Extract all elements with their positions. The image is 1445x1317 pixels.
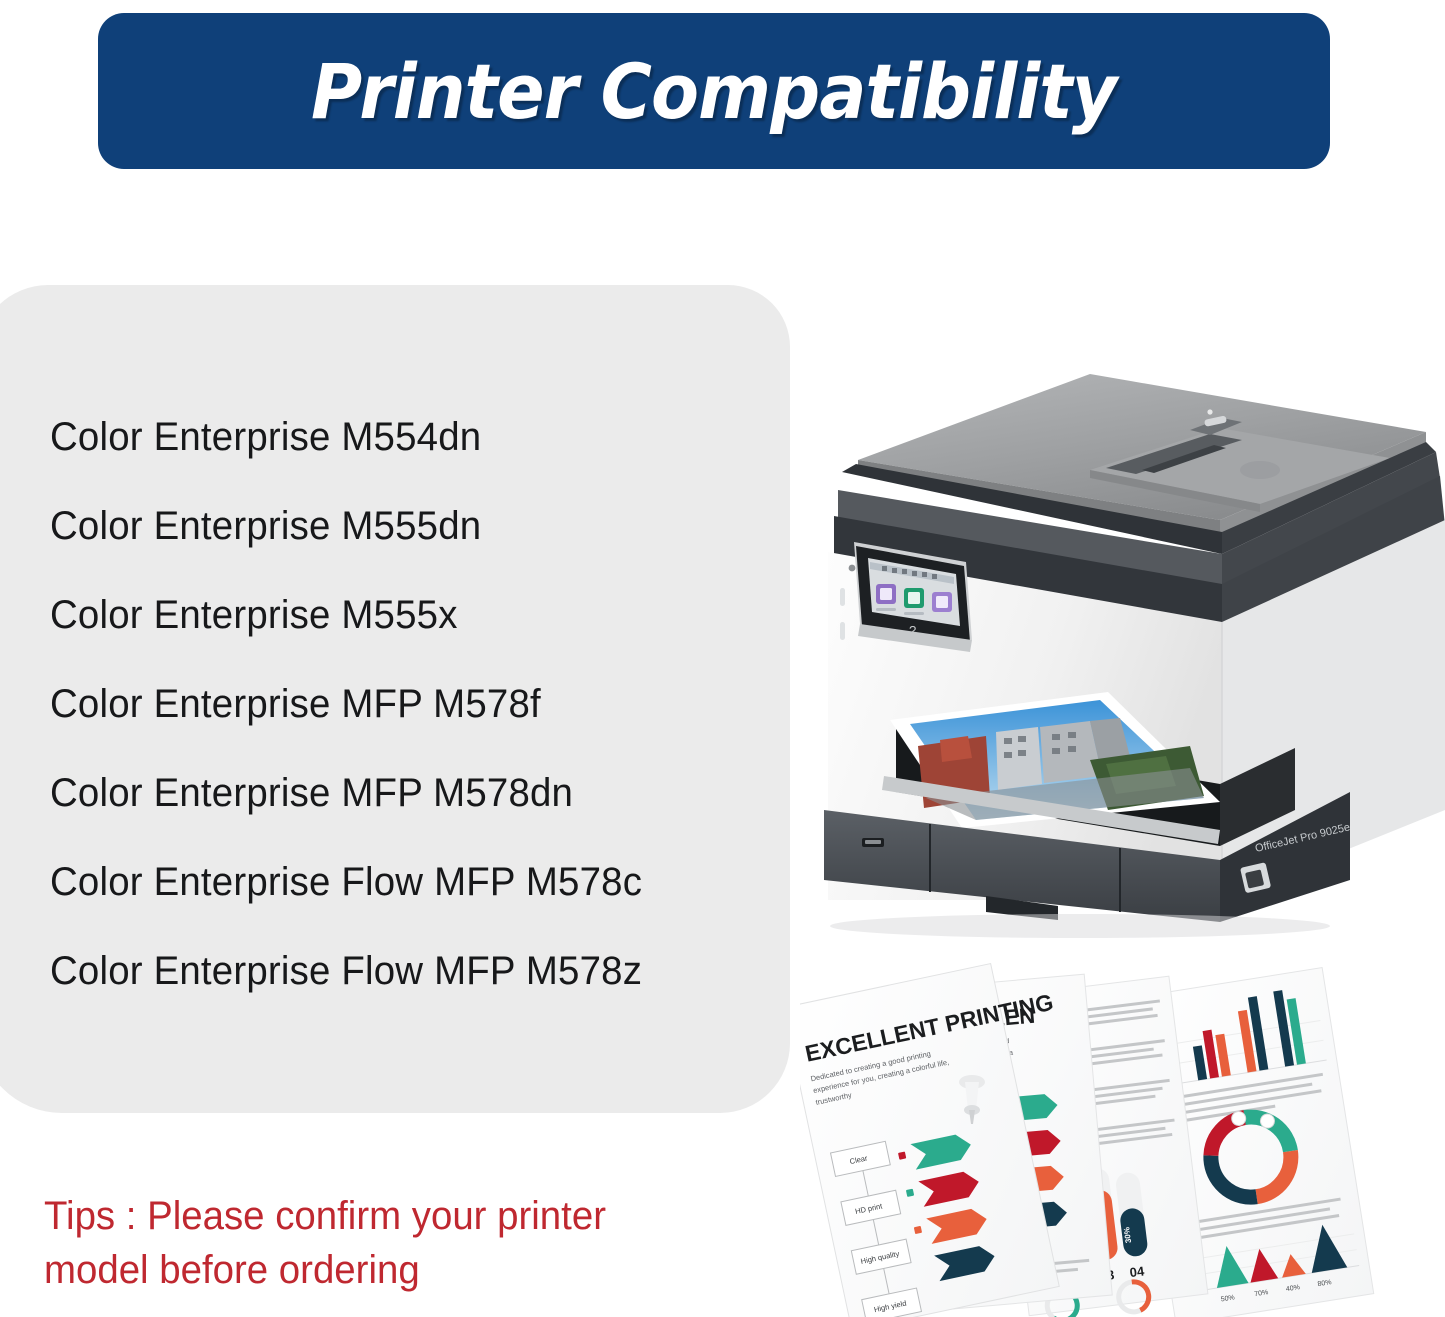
page-title: Printer Compatibility (311, 47, 1116, 136)
power-indicator (849, 565, 856, 572)
printer-model-list: Color Enterprise M554dn Color Enterprise… (50, 415, 750, 1038)
compatibility-panel: Color Enterprise M554dn Color Enterprise… (0, 285, 790, 1113)
screen-tile-label (904, 612, 924, 615)
list-item: Color Enterprise Flow MFP M578z (50, 949, 722, 994)
status-led (840, 588, 845, 606)
header-banner: Printer Compatibility (98, 13, 1330, 169)
tips-note: Tips : Please confirm your printer model… (44, 1190, 716, 1297)
list-item: Color Enterprise MFP M578dn (50, 771, 722, 816)
list-item: Color Enterprise M555x (50, 593, 722, 638)
list-item: Color Enterprise M554dn (50, 415, 722, 460)
document-samples-illustration: 50%70% 40%80% 01 02 (800, 950, 1445, 1317)
list-item: Color Enterprise M555dn (50, 504, 722, 549)
list-item: Color Enterprise Flow MFP M578c (50, 860, 722, 905)
screen-tile-label (876, 608, 896, 611)
list-item: Color Enterprise MFP M578f (50, 682, 722, 727)
printer-illustration: ? (790, 340, 1445, 960)
svg-text:04: 04 (1129, 1263, 1146, 1280)
status-led (840, 622, 845, 640)
